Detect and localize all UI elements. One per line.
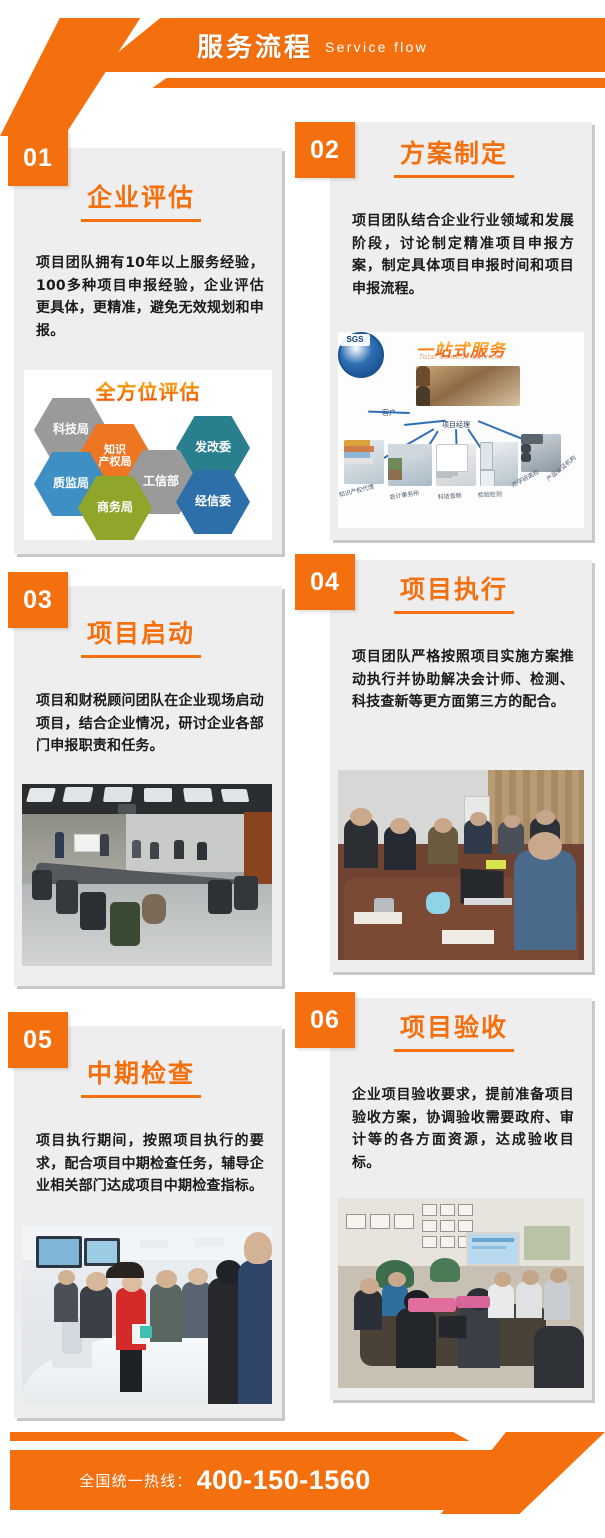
- card-description: 项目团队严格按照项目实施方案推动执行并协助解决会计师、检测、科技查新等更方面第三…: [352, 646, 574, 714]
- card-media-photo-acceptance-meeting: [338, 1198, 584, 1388]
- step-number-badge: 04: [295, 554, 355, 610]
- photo-acceptance-meeting: [338, 1198, 584, 1388]
- service-node-certification-seal: SGS: [338, 332, 384, 378]
- step-number-badge: 02: [295, 122, 355, 178]
- service-connector-2: [404, 420, 446, 426]
- step-number-badge: 06: [295, 992, 355, 1048]
- card-title: 企业评估: [81, 184, 201, 222]
- page-header: 服务流程 Service flow: [0, 0, 605, 112]
- page-title-subtitle: Service flow: [325, 39, 428, 55]
- card-media-photo-conference-room: [22, 784, 272, 966]
- service-step-card-03[interactable]: 03 项目启动 项目和财税顾问团队在企业现场启动项目，结合企业情况，研讨企业各部…: [14, 586, 282, 986]
- service-diagram-subtitle: Total Solution Services: [419, 354, 504, 361]
- footer-hotline-number[interactable]: 400-150-1560: [197, 1465, 371, 1496]
- card-media-photo-working-meeting: [338, 770, 584, 960]
- footer-hotline-group: 全国统一热线： 400-150-1560: [10, 1450, 440, 1510]
- photo-working-meeting: [338, 770, 584, 960]
- service-bottom-label-2: 会计事务所: [389, 488, 420, 501]
- service-bottom-label-1: 知识产权代理: [338, 482, 375, 499]
- header-title-group: 服务流程 Service flow: [0, 18, 605, 72]
- card-media-service-diagram: 一站式服务 Total Solution Services 客户 项目经理: [338, 332, 584, 528]
- service-step-card-06[interactable]: 06 项目验收 企业项目验收要求，提前准备项目验收方案，协调验收需要政府、审计等…: [330, 998, 592, 1400]
- card-heading: 项目执行: [330, 576, 578, 614]
- card-heading: 企业评估: [14, 184, 268, 222]
- page-title: 服务流程: [197, 27, 313, 64]
- service-bottom-label-3: 科技查新: [437, 490, 462, 501]
- photo-conference-room: [22, 784, 272, 966]
- page-footer: 全国统一热线： 400-150-1560: [0, 1412, 605, 1538]
- service-bottom-label-4: 检验检测: [478, 489, 502, 499]
- card-description: 项目和财税顾问团队在企业现场启动项目，结合企业情况，研讨企业各部门申报职责和任务…: [36, 690, 264, 758]
- hexagon-diagram: 全方位评估 科技局 知识产权局 发改委 质监局 工信部 商务局 经信委: [24, 370, 272, 540]
- card-description: 企业项目验收要求，提前准备项目验收方案，协调验收需要政府、审计等的各方面资源，达…: [352, 1084, 574, 1175]
- footer-hotline-label: 全国统一热线：: [79, 1470, 192, 1491]
- service-flow-grid: 01 企业评估 项目团队拥有10年以上服务经验，100多种项目申报经验，企业评估…: [0, 112, 605, 1412]
- card-media-hexagon-diagram: 全方位评估 科技局 知识产权局 发改委 质监局 工信部 商务局 经信委: [24, 370, 272, 540]
- card-title: 项目启动: [81, 620, 201, 658]
- card-media-photo-showroom-visit: [22, 1226, 272, 1404]
- card-title: 项目执行: [394, 576, 514, 614]
- photo-showroom-visit: [22, 1226, 272, 1404]
- service-node-ip: [344, 440, 384, 484]
- card-heading: 方案制定: [330, 140, 578, 178]
- service-step-card-01[interactable]: 01 企业评估 项目团队拥有10年以上服务经验，100多种项目申报经验，企业评估…: [14, 148, 282, 554]
- card-description: 项目执行期间，按照项目执行的要求，配合项目中期检查任务，辅导企业相关部门达成项目…: [36, 1130, 264, 1198]
- card-heading: 项目验收: [330, 1014, 578, 1052]
- service-node-search: [436, 444, 476, 486]
- step-number-badge: 03: [8, 572, 68, 628]
- card-description: 项目团队结合企业行业领域和发展阶段，讨论制定精准项目申报方案，制定具体项目申报时…: [352, 210, 574, 301]
- hexagon-diagram-title: 全方位评估: [96, 376, 201, 405]
- service-step-card-05[interactable]: 05 中期检查 项目执行期间，按照项目执行的要求，配合项目中期检查任务，辅导企业…: [14, 1026, 282, 1418]
- card-description: 项目团队拥有10年以上服务经验，100多种项目申报经验，企业评估更具体，更精准，…: [36, 252, 264, 343]
- service-center-photo: [416, 366, 520, 406]
- service-step-card-02[interactable]: 02 方案制定 项目团队结合企业行业领域和发展阶段，讨论制定精准项目申报方案，制…: [330, 122, 592, 540]
- one-stop-service-diagram: 一站式服务 Total Solution Services 客户 项目经理: [338, 332, 584, 528]
- step-number-badge: 05: [8, 1012, 68, 1068]
- step-number-badge: 01: [8, 130, 68, 186]
- service-node-accounting: [388, 444, 432, 486]
- service-step-card-04[interactable]: 04 项目执行 项目团队严格按照项目实施方案推动执行并协助解决会计师、检测、科技…: [330, 560, 592, 972]
- card-title: 方案制定: [394, 140, 514, 178]
- card-title: 项目验收: [394, 1014, 514, 1052]
- card-title: 中期检查: [81, 1060, 201, 1098]
